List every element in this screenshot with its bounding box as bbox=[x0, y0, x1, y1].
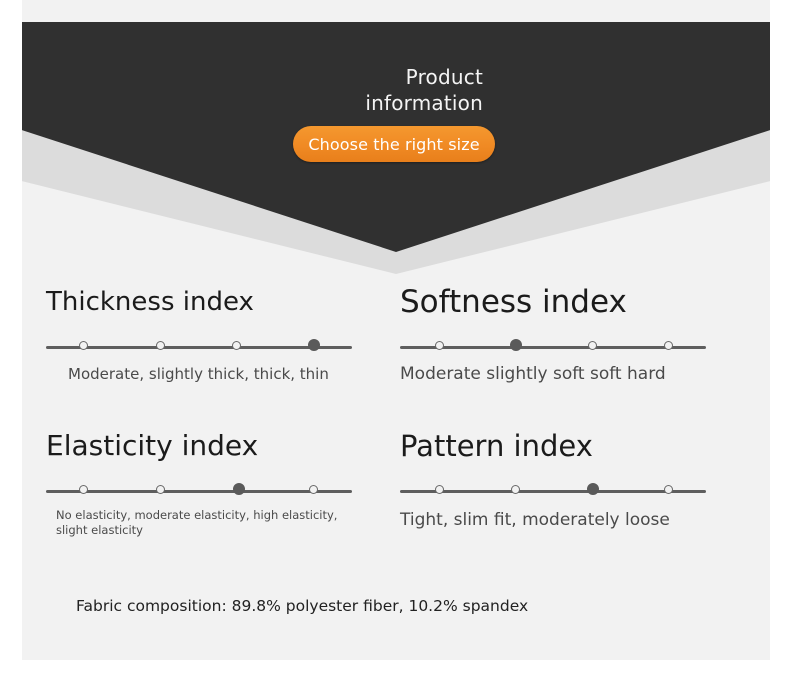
slider-dot-1[interactable] bbox=[435, 485, 444, 494]
fabric-composition-text: Fabric composition: 89.8% polyester fibe… bbox=[76, 595, 528, 617]
page-title: Product information bbox=[22, 64, 483, 116]
product-information-page: Product information Choose the right siz… bbox=[0, 0, 790, 699]
softness-index-caption: Moderate slightly soft soft hard bbox=[400, 363, 720, 385]
index-block-pattern: Pattern index Tight, slim fit, moderatel… bbox=[400, 429, 720, 531]
slider-track bbox=[46, 346, 352, 349]
slider-dot-4-active[interactable] bbox=[308, 339, 320, 351]
slider-dot-1[interactable] bbox=[435, 341, 444, 350]
thickness-slider[interactable] bbox=[46, 337, 352, 357]
banner-content: Product information Choose the right siz… bbox=[22, 22, 770, 252]
softness-index-heading: Softness index bbox=[400, 285, 720, 319]
index-block-thickness: Thickness index Moderate, slightly thick… bbox=[46, 285, 364, 384]
softness-slider[interactable] bbox=[400, 337, 706, 357]
slider-track bbox=[400, 346, 706, 349]
pattern-slider[interactable] bbox=[400, 481, 706, 501]
elasticity-slider[interactable] bbox=[46, 481, 352, 501]
index-row-2: Elasticity index No elasticity, moderate… bbox=[0, 429, 748, 565]
elasticity-index-caption: No elasticity, moderate elasticity, high… bbox=[56, 508, 356, 538]
slider-dot-2[interactable] bbox=[156, 485, 165, 494]
slider-track bbox=[46, 490, 352, 493]
index-row-1: Thickness index Moderate, slightly thick… bbox=[0, 285, 748, 429]
slider-dot-3-active[interactable] bbox=[587, 483, 599, 495]
banner-chevron: Product information Choose the right siz… bbox=[22, 22, 770, 252]
choose-the-right-size-button[interactable]: Choose the right size bbox=[293, 126, 495, 162]
slider-dot-2-active[interactable] bbox=[510, 339, 522, 351]
banner-region: Product information Choose the right siz… bbox=[22, 0, 770, 285]
index-block-elasticity: Elasticity index No elasticity, moderate… bbox=[46, 429, 364, 538]
slider-dot-3-active[interactable] bbox=[233, 483, 245, 495]
pattern-index-heading: Pattern index bbox=[400, 429, 720, 463]
slider-track bbox=[400, 490, 706, 493]
index-section: Thickness index Moderate, slightly thick… bbox=[0, 285, 748, 565]
slider-dot-2[interactable] bbox=[156, 341, 165, 350]
slider-dot-4[interactable] bbox=[309, 485, 318, 494]
thickness-index-caption: Moderate, slightly thick, thick, thin bbox=[68, 364, 364, 384]
slider-dot-3[interactable] bbox=[588, 341, 597, 350]
thickness-index-heading: Thickness index bbox=[46, 285, 364, 319]
pattern-index-caption: Tight, slim fit, moderately loose bbox=[400, 509, 720, 531]
elasticity-index-heading: Elasticity index bbox=[46, 429, 364, 463]
index-block-softness: Softness index Moderate slightly soft so… bbox=[400, 285, 720, 385]
